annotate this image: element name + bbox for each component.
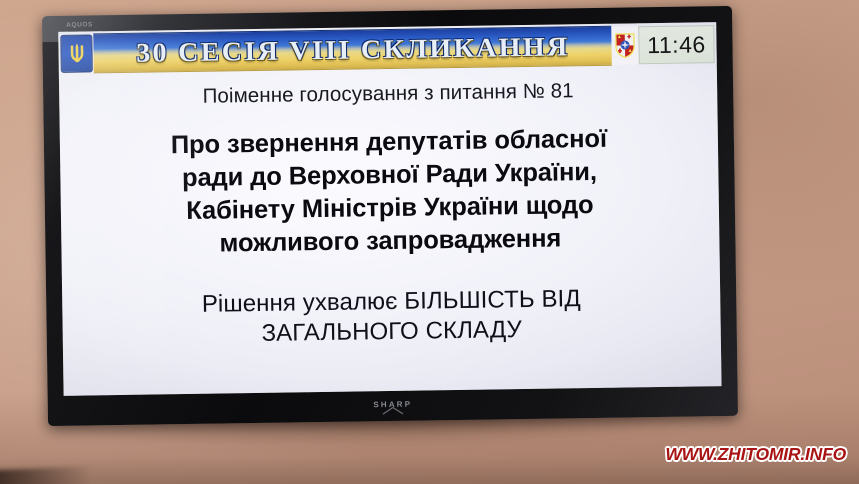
- screenshot-stage: AQUOS: [0, 0, 859, 484]
- voting-subject-line: Поіменне голосування з питання № 81: [59, 77, 717, 111]
- tv-screen: 30 СЕСІЯ VIII СКЛИКАННЯ: [58, 22, 721, 396]
- site-watermark: WWW.ZHITOMIR.INFO: [665, 444, 846, 465]
- decision-rule-text: Рішення ухвалює БІЛЬШІСТЬ ВІД ЗАГАЛЬНОГО…: [62, 282, 721, 353]
- session-banner: 30 СЕСІЯ VIII СКЛИКАННЯ: [60, 24, 715, 74]
- session-title-text: 30 СЕСІЯ VIII СКЛИКАННЯ: [136, 31, 570, 68]
- ukrainian-trident-icon: [60, 34, 93, 72]
- zhytomyr-coat-of-arms-icon: [611, 26, 639, 64]
- presentation-slide: 30 СЕСІЯ VIII СКЛИКАННЯ: [58, 22, 721, 396]
- aquos-brand-label: AQUOS: [66, 21, 93, 28]
- session-banner-title: 30 СЕСІЯ VIII СКЛИКАННЯ: [93, 26, 612, 74]
- wall-corner-edge: [0, 466, 108, 484]
- session-clock: 11:46: [638, 25, 715, 64]
- resolution-title: Про звернення депутатів обласної ради до…: [60, 121, 720, 263]
- television-set: AQUOS: [42, 6, 738, 426]
